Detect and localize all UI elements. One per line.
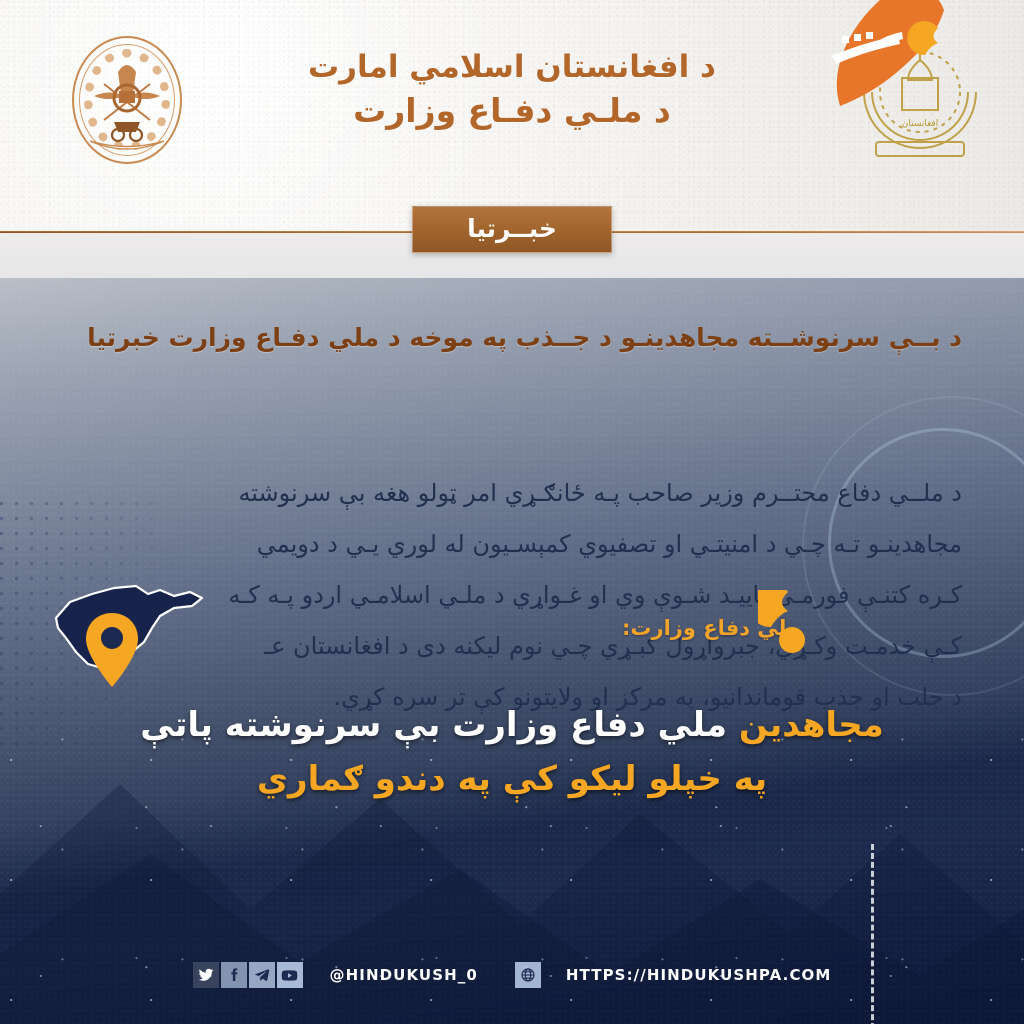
- emblem-arms-icon: [72, 36, 182, 164]
- location-pin-icon: [80, 610, 144, 690]
- footer-bar: @HINDUKUSH_0 HTTPS://HINDUKUSHPA.COM: [0, 948, 1024, 1002]
- facebook-icon[interactable]: [221, 962, 247, 988]
- news-badge: خبــرتيا: [412, 206, 612, 253]
- hindukush-brand-logo: [814, 0, 974, 134]
- overlay-headline-emphasis: مجاهدين: [739, 705, 884, 745]
- ministry-name-title: د ملـي دفـاع وزارت: [302, 91, 722, 130]
- hindukush-mark-icon: [758, 590, 818, 656]
- social-links-group[interactable]: [193, 962, 303, 988]
- brand-logo-group: افغانستان: [822, 0, 1012, 174]
- body-line: د ملــي دفاع محتــرم وزير صاحب پـه ځانګـ…: [57, 468, 962, 519]
- ministry-of-defense-emblem: [72, 36, 182, 164]
- overlay-headline-main: ملي دفاع وزارت بې سرنوشته پاتې: [140, 705, 727, 745]
- body-line: مجاهدينـو تـه چـي د امنيتـي او تصفيوي کم…: [57, 519, 962, 570]
- poster-canvas: د افغانستان اسلامي امارت د ملـي دفـاع وز…: [0, 0, 1024, 1024]
- overlay-headline: مجاهدين ملي دفاع وزارت بې سرنوشته پاتې پ…: [0, 698, 1024, 807]
- youtube-icon[interactable]: [277, 962, 303, 988]
- emirate-calligraphy-title: د افغانستان اسلامي امارت: [302, 48, 722, 87]
- overlay-headline-line-1: مجاهدين ملي دفاع وزارت بې سرنوشته پاتې: [0, 698, 1024, 752]
- website-url[interactable]: HTTPS://HINDUKUSHPA.COM: [566, 966, 832, 984]
- globe-icon: [515, 962, 541, 988]
- overlay-headline-line-2: په خپلو لیکو کې په دندو ګماري: [0, 752, 1024, 806]
- twitter-icon[interactable]: [193, 962, 219, 988]
- article-headline: د بــې سرنوشــته مجاهدينـو د جــذب په مو…: [62, 312, 962, 363]
- ministry-title-block: د افغانستان اسلامي امارت د ملـي دفـاع وز…: [302, 48, 722, 130]
- telegram-icon[interactable]: [249, 962, 275, 988]
- social-handle[interactable]: @HINDUKUSH_0: [330, 966, 478, 984]
